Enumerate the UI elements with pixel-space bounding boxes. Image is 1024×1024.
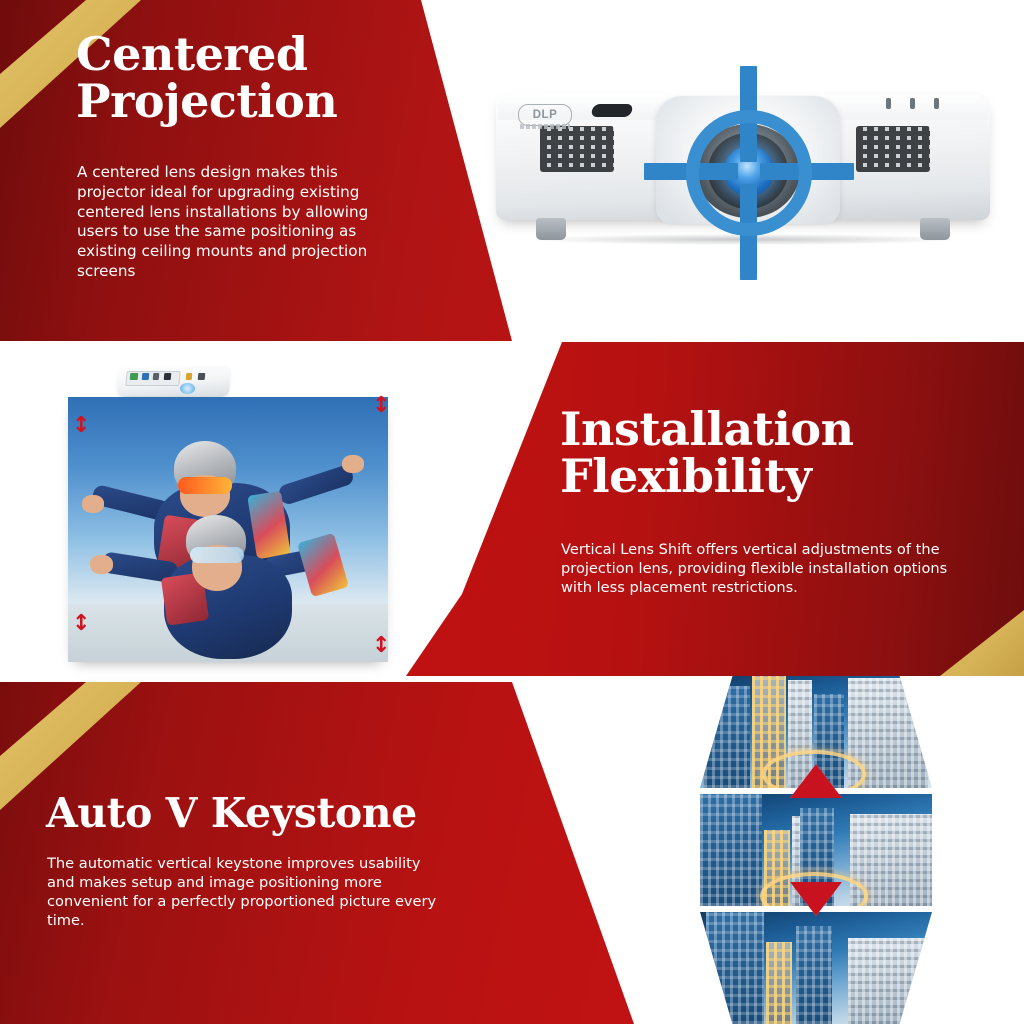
dlp-badge-icon: DLP bbox=[518, 104, 572, 126]
crosshair-arc-bottom-right bbox=[686, 110, 812, 236]
projector-indicator-1 bbox=[886, 98, 891, 109]
building-d bbox=[796, 926, 832, 1024]
skydivers-projection-screen-image bbox=[68, 397, 388, 662]
keystone-arrow-down-icon bbox=[790, 882, 842, 916]
panel-title-line-2: Projection bbox=[76, 78, 406, 125]
skydiver-upper-goggles bbox=[178, 477, 232, 494]
panel-centered-projection-title: Centered Projection bbox=[76, 31, 406, 125]
panel-auto-v-keystone-body: The automatic vertical keystone improves… bbox=[47, 855, 443, 931]
building-a bbox=[700, 794, 762, 906]
vertical-shift-arrow-bottom-left: ↕ bbox=[72, 618, 83, 644]
vertical-shift-arrow-top-right: ↕ bbox=[372, 400, 383, 426]
projector-indicator-2 bbox=[910, 98, 915, 109]
keystone-correction-city-image-stack bbox=[700, 676, 932, 1024]
vertical-shift-arrow-bottom-right: ↕ bbox=[372, 640, 383, 666]
panel-title-line-1: Centered bbox=[76, 31, 406, 78]
infographic-canvas: Centered Projection A centered lens desi… bbox=[0, 0, 1024, 1024]
building-e bbox=[848, 938, 926, 1024]
skydiver-lower-hand-left bbox=[90, 555, 113, 574]
panel-installation-flexibility-title: Installation Flexibility bbox=[560, 406, 1000, 500]
projector-foot-right bbox=[920, 218, 950, 240]
panel-installation-flexibility-body: Vertical Lens Shift offers vertical adju… bbox=[561, 541, 969, 598]
projector-port-1 bbox=[130, 373, 139, 380]
building-a bbox=[706, 912, 764, 1024]
keystone-arrow-up-icon bbox=[790, 764, 842, 798]
panel-title-line-2: Flexibility bbox=[560, 453, 1000, 500]
panel-auto-v-keystone-title: Auto V Keystone bbox=[46, 793, 486, 835]
projector-port-5 bbox=[186, 373, 193, 380]
projector-indicator-3 bbox=[934, 98, 939, 109]
skydiver-lower-goggles bbox=[190, 547, 244, 563]
dlp-badge-subtext bbox=[520, 124, 570, 129]
vertical-shift-arrow-top-left: ↕ bbox=[72, 420, 83, 446]
keystone-frame-bottom bbox=[700, 912, 932, 1024]
projector-port-6 bbox=[198, 373, 206, 380]
projector-foot-left bbox=[536, 218, 566, 240]
skydiver-upper-hand-left bbox=[82, 495, 104, 513]
skydiver-upper-hand-right bbox=[342, 455, 364, 473]
building-a bbox=[704, 686, 750, 788]
projector-vent-left bbox=[540, 126, 614, 172]
projector-intake-slot bbox=[590, 104, 633, 117]
panel-title-line-1: Installation bbox=[560, 406, 1000, 453]
panel-centered-projection-body: A centered lens design makes this projec… bbox=[77, 163, 389, 282]
building-b bbox=[766, 942, 792, 1024]
projector-vent-right bbox=[856, 126, 930, 172]
projector-port-4 bbox=[164, 373, 172, 380]
projector-front-with-crosshair-image: DLP bbox=[496, 78, 990, 246]
projector-port-2 bbox=[142, 373, 150, 380]
projector-port-3 bbox=[153, 373, 160, 380]
projector-small-lens bbox=[180, 383, 195, 394]
